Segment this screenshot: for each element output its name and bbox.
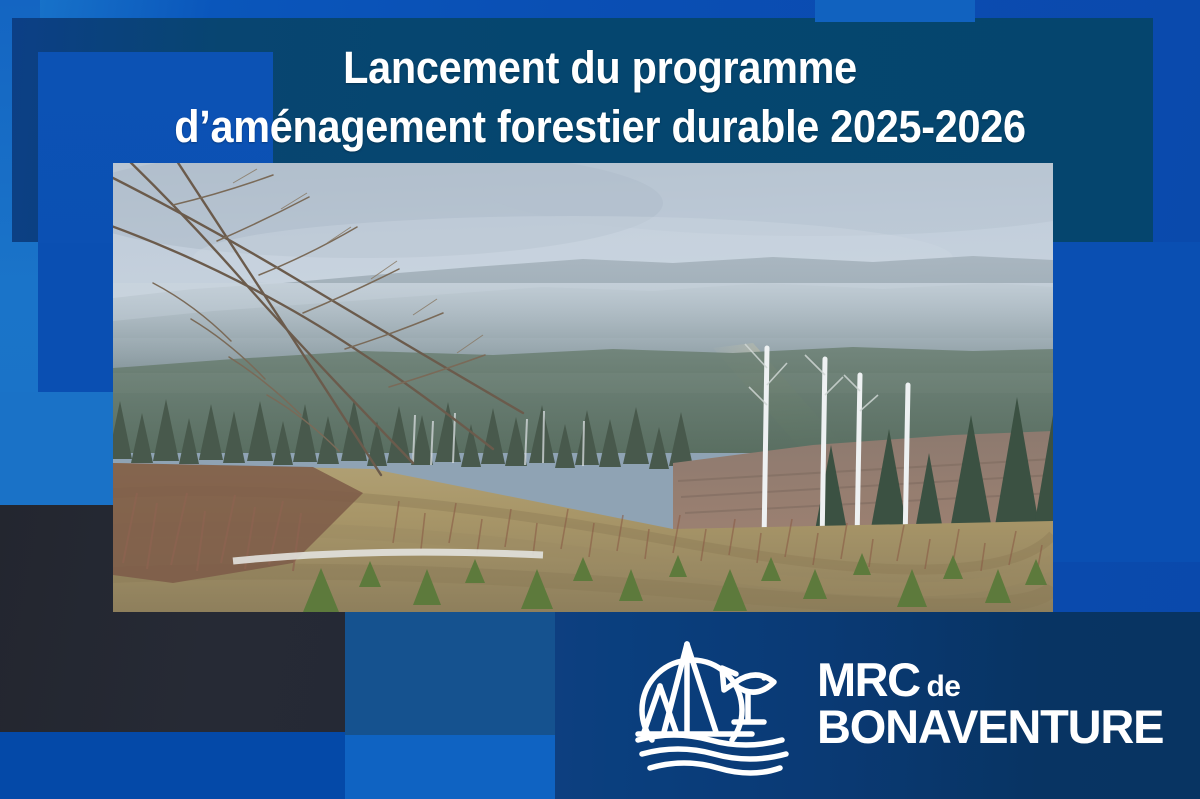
wordmark-line-1: MRC de	[817, 658, 1163, 701]
background-right-lower-panel	[1053, 242, 1200, 562]
mrc-bonaventure-logo: MRC de BONAVENTURE	[624, 628, 1184, 778]
sailboat-mountain-fish-waves-icon	[624, 628, 809, 778]
forest-photograph	[113, 163, 1053, 612]
background-top-right-strip	[815, 0, 975, 22]
forest-photograph-image	[113, 163, 1053, 612]
mrc-bonaventure-wordmark: MRC de BONAVENTURE	[817, 658, 1163, 748]
background-bottom-left-strip	[0, 732, 345, 799]
mrc-bonaventure-emblem-icon	[624, 628, 809, 778]
background-bottom-mid-panel	[345, 612, 560, 737]
poster-title-line-1: Lancement du programme	[48, 38, 1152, 97]
background-bottom-blue-panel	[345, 735, 560, 799]
poster-title-line-2: d’aménagement forestier durable 2025-202…	[48, 97, 1152, 156]
wordmark-bonaventure: BONAVENTURE	[817, 705, 1163, 748]
wordmark-de: de	[927, 673, 961, 701]
poster-canvas: Lancement du programme d’aménagement for…	[0, 0, 1200, 799]
wordmark-mrc: MRC	[817, 658, 920, 701]
poster-title: Lancement du programme d’aménagement for…	[48, 38, 1152, 157]
